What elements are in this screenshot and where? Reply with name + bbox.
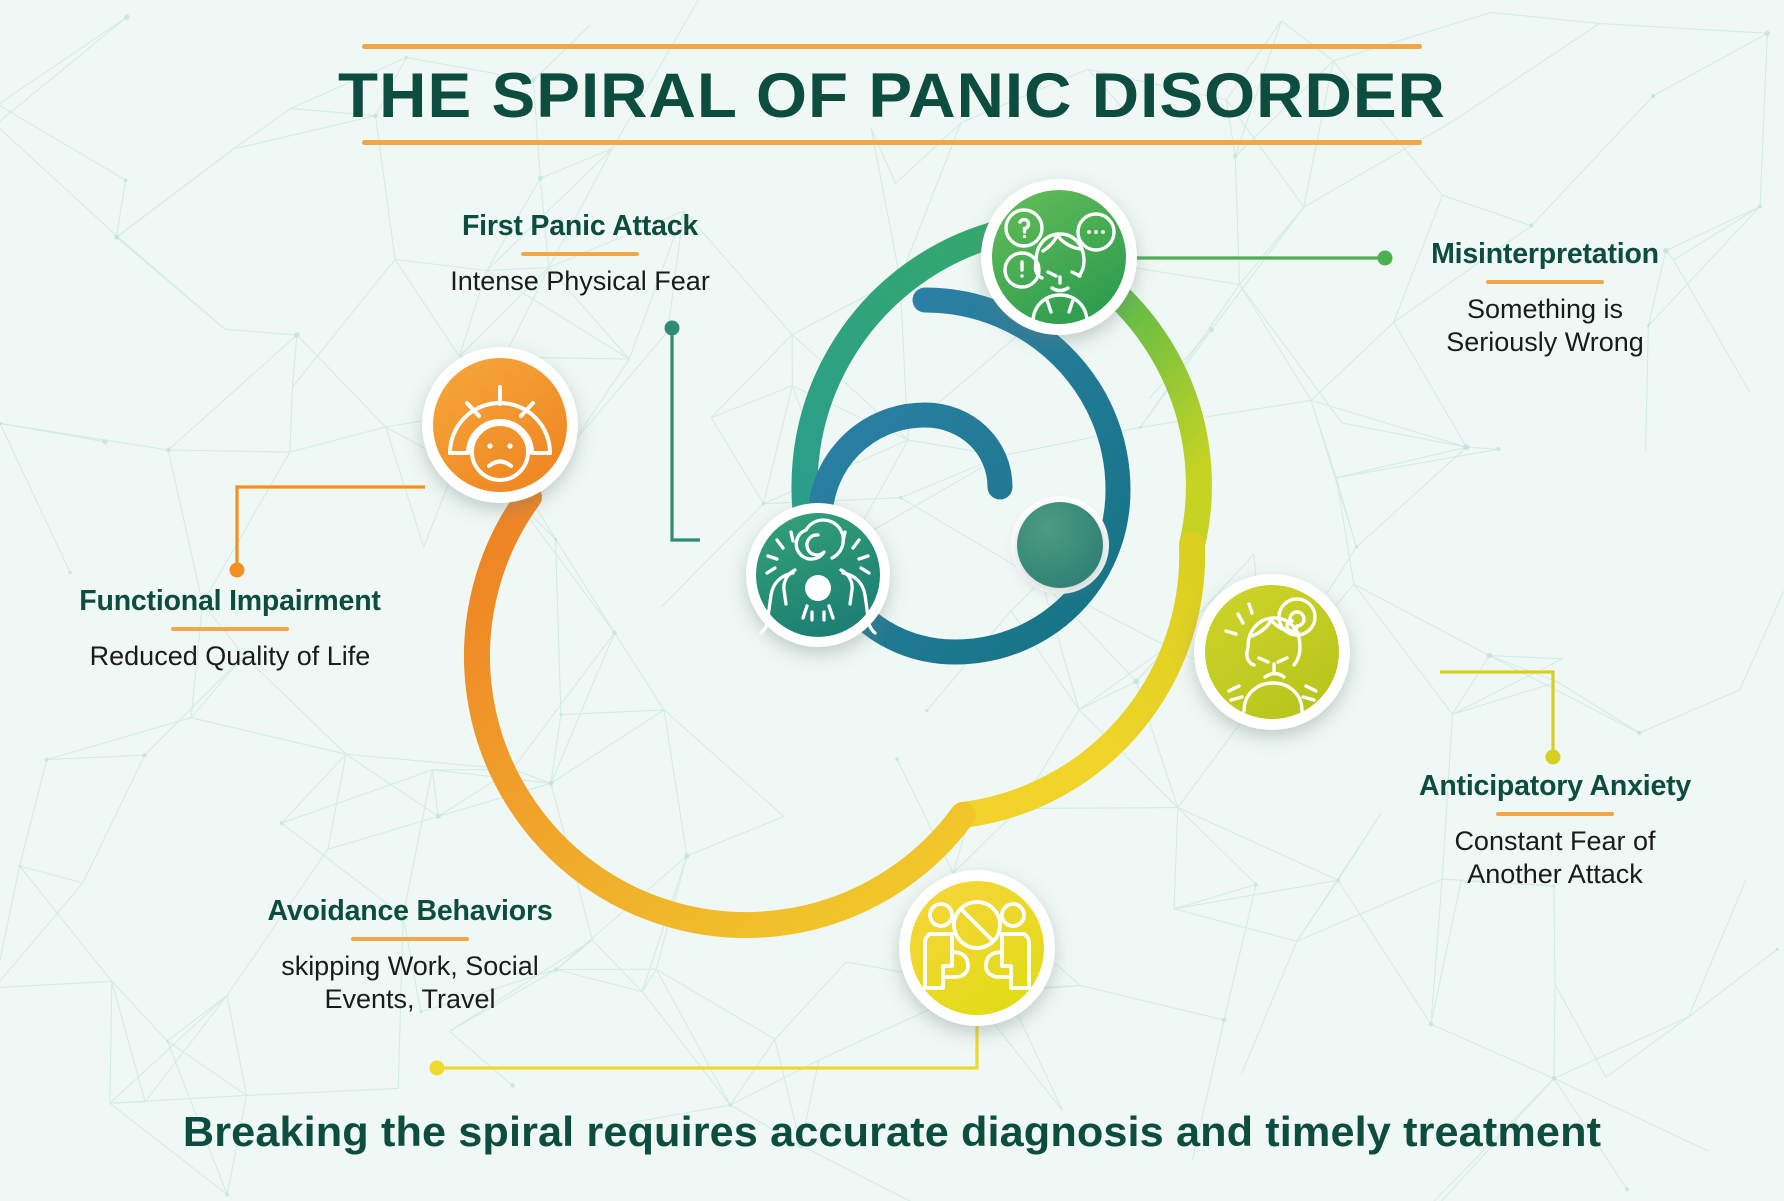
spiral-core-dot <box>1011 496 1109 594</box>
title-rule-bottom <box>362 140 1422 145</box>
callout-subtitle: skipping Work, SocialEvents, Travel <box>215 950 605 1017</box>
title-rule-top <box>362 44 1422 49</box>
callout-anticipatory-anxiety[interactable]: Anticipatory Anxiety Constant Fear ofAno… <box>1360 770 1750 891</box>
callout-functional-impairment[interactable]: Functional Impairment Reduced Quality of… <box>30 585 430 673</box>
node-avoidance-behaviors[interactable] <box>899 870 1055 1026</box>
callout-title: Misinterpretation <box>1380 238 1710 271</box>
callout-title: Anticipatory Anxiety <box>1360 770 1750 803</box>
callout-underline <box>1486 280 1604 284</box>
footer-tagline: Breaking the spiral requires accurate di… <box>0 1108 1784 1156</box>
callout-avoidance-behaviors[interactable]: Avoidance Behaviors skipping Work, Socia… <box>215 895 605 1016</box>
node-first-panic-attack[interactable] <box>746 503 890 647</box>
callout-title: Functional Impairment <box>30 585 430 618</box>
callout-underline <box>521 252 639 256</box>
page-header: THE SPIRAL OF PANIC DISORDER <box>0 44 1784 145</box>
callout-subtitle: Intense Physical Fear <box>390 265 770 298</box>
callout-underline <box>351 937 469 941</box>
callout-subtitle: Reduced Quality of Life <box>30 640 430 673</box>
callout-underline <box>171 627 289 631</box>
callout-subtitle: Something isSeriously Wrong <box>1380 293 1710 360</box>
callout-misinterpretation[interactable]: Misinterpretation Something isSeriously … <box>1380 238 1710 359</box>
node-functional-impairment[interactable] <box>422 347 578 503</box>
node-misinterpretation[interactable] <box>981 179 1137 335</box>
callout-subtitle: Constant Fear ofAnother Attack <box>1360 825 1750 892</box>
callout-title: Avoidance Behaviors <box>215 895 605 928</box>
callout-title: First Panic Attack <box>390 210 770 243</box>
page-title: THE SPIRAL OF PANIC DISORDER <box>0 63 1784 130</box>
callout-underline <box>1496 812 1614 816</box>
node-anticipatory-anxiety[interactable] <box>1194 574 1350 730</box>
callout-first-panic-attack[interactable]: First Panic Attack Intense Physical Fear <box>390 210 770 298</box>
